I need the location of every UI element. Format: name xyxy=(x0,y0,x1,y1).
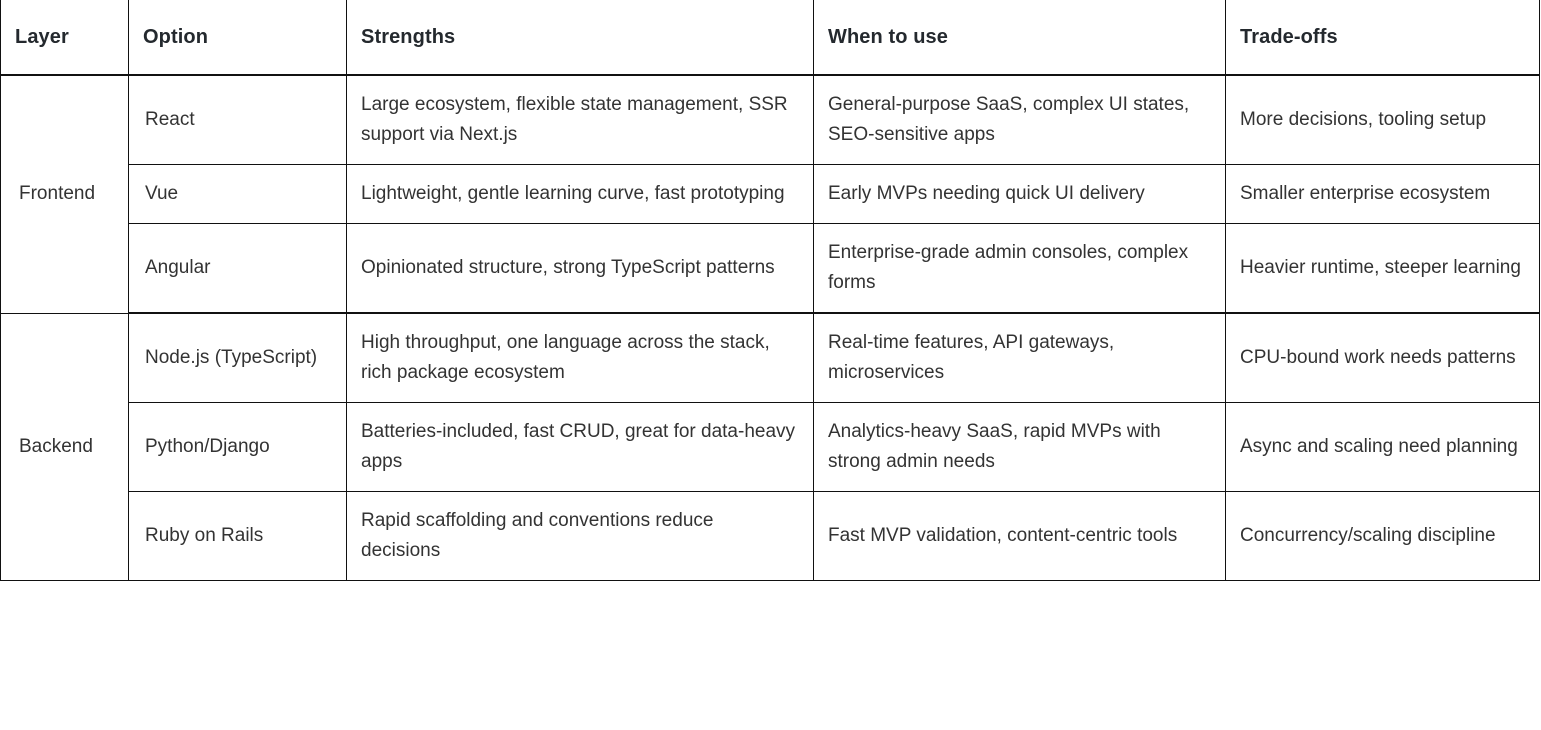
trade-offs-cell: Concurrency/scaling discipline xyxy=(1226,492,1540,581)
option-cell: Python/Django xyxy=(129,403,347,492)
table-header: Layer Option Strengths When to use Trade… xyxy=(1,0,1540,75)
table-container: Layer Option Strengths When to use Trade… xyxy=(0,0,1541,730)
strengths-cell: Batteries-included, fast CRUD, great for… xyxy=(347,403,814,492)
table-row: Angular Opinionated structure, strong Ty… xyxy=(1,224,1540,314)
header-row: Layer Option Strengths When to use Trade… xyxy=(1,0,1540,75)
option-cell: Angular xyxy=(129,224,347,314)
trade-offs-cell: Smaller enterprise ecosystem xyxy=(1226,165,1540,224)
option-cell: Node.js (TypeScript) xyxy=(129,313,347,403)
strengths-cell: Opinionated structure, strong TypeScript… xyxy=(347,224,814,314)
layer-group-cell-backend: Backend xyxy=(1,313,129,581)
strengths-cell: Rapid scaffolding and conventions reduce… xyxy=(347,492,814,581)
column-header-layer: Layer xyxy=(1,0,129,75)
trade-offs-cell: CPU-bound work needs patterns xyxy=(1226,313,1540,403)
column-header-trade-offs: Trade-offs xyxy=(1226,0,1540,75)
trade-offs-cell: Async and scaling need planning xyxy=(1226,403,1540,492)
when-to-use-cell: Analytics-heavy SaaS, rapid MVPs with st… xyxy=(814,403,1226,492)
strengths-cell: High throughput, one language across the… xyxy=(347,313,814,403)
option-cell: Ruby on Rails xyxy=(129,492,347,581)
option-cell: React xyxy=(129,75,347,165)
table-row: Ruby on Rails Rapid scaffolding and conv… xyxy=(1,492,1540,581)
layer-group-cell-frontend: Frontend xyxy=(1,75,129,313)
table-row: Vue Lightweight, gentle learning curve, … xyxy=(1,165,1540,224)
trade-offs-cell: Heavier runtime, steeper learning xyxy=(1226,224,1540,314)
table-row: Frontend React Large ecosystem, flexible… xyxy=(1,75,1540,165)
when-to-use-cell: Enterprise-grade admin consoles, complex… xyxy=(814,224,1226,314)
column-header-when-to-use: When to use xyxy=(814,0,1226,75)
when-to-use-cell: Real-time features, API gateways, micros… xyxy=(814,313,1226,403)
when-to-use-cell: Fast MVP validation, content-centric too… xyxy=(814,492,1226,581)
table-row: Backend Node.js (TypeScript) High throug… xyxy=(1,313,1540,403)
option-cell: Vue xyxy=(129,165,347,224)
strengths-cell: Large ecosystem, flexible state manageme… xyxy=(347,75,814,165)
when-to-use-cell: Early MVPs needing quick UI delivery xyxy=(814,165,1226,224)
trade-offs-cell: More decisions, tooling setup xyxy=(1226,75,1540,165)
table-row: Python/Django Batteries-included, fast C… xyxy=(1,403,1540,492)
table-body: Frontend React Large ecosystem, flexible… xyxy=(1,75,1540,581)
stack-comparison-table: Layer Option Strengths When to use Trade… xyxy=(0,0,1540,581)
column-header-option: Option xyxy=(129,0,347,75)
when-to-use-cell: General-purpose SaaS, complex UI states,… xyxy=(814,75,1226,165)
strengths-cell: Lightweight, gentle learning curve, fast… xyxy=(347,165,814,224)
column-header-strengths: Strengths xyxy=(347,0,814,75)
